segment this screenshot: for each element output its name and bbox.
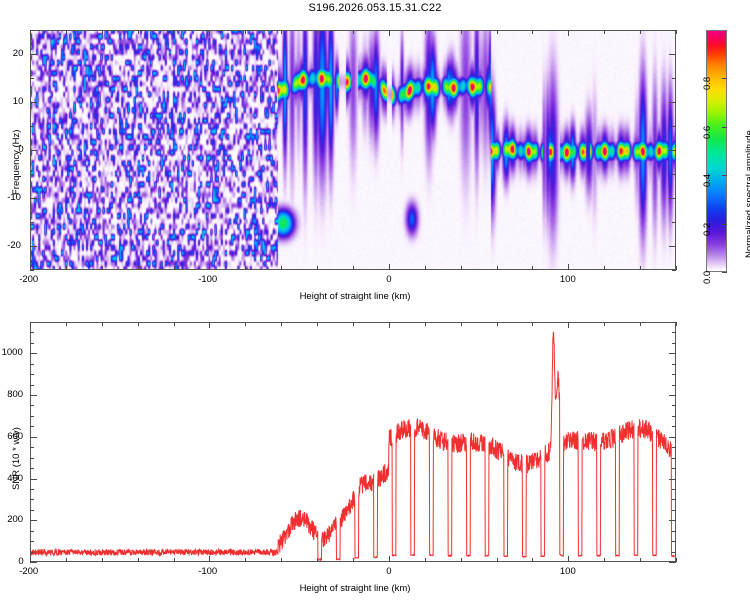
colorbar-tick-label: 0.6 bbox=[702, 126, 713, 139]
x-minor-tick-top bbox=[245, 322, 246, 326]
x-minor-tick bbox=[281, 266, 282, 270]
x-major-tick bbox=[209, 264, 210, 270]
x-minor-tick-top bbox=[497, 30, 498, 34]
x-minor-tick bbox=[676, 558, 677, 562]
x-minor-tick-top bbox=[317, 322, 318, 326]
x-tick-label: 0 bbox=[386, 274, 391, 285]
x-tick-label: -200 bbox=[19, 274, 38, 285]
y-tick-label: 10 bbox=[13, 96, 24, 107]
y-minor-tick-right bbox=[672, 222, 676, 223]
y-major-tick-right bbox=[669, 246, 676, 247]
y-major-tick-right bbox=[669, 562, 676, 563]
x-major-tick-top bbox=[568, 322, 569, 328]
x-minor-tick-top bbox=[461, 322, 462, 326]
figure-root: S196.2026.053.15.31.C22 -200-1000100-20-… bbox=[0, 0, 750, 600]
x-tick-label: 0 bbox=[386, 566, 391, 577]
y-minor-tick bbox=[30, 531, 34, 532]
colorbar-tick-label: 0.8 bbox=[702, 77, 713, 90]
colorbar-tick bbox=[722, 175, 727, 176]
y-tick-label: -20 bbox=[7, 240, 21, 251]
colorbar-tick bbox=[722, 272, 727, 273]
x-minor-tick bbox=[425, 558, 426, 562]
x-minor-tick bbox=[317, 266, 318, 270]
y-major-tick-right bbox=[669, 395, 676, 396]
x-minor-tick-top bbox=[640, 322, 641, 326]
x-minor-tick-top bbox=[461, 30, 462, 34]
y-minor-tick bbox=[30, 222, 34, 223]
y-tick-label: 200 bbox=[7, 514, 23, 525]
x-major-tick-top bbox=[389, 322, 390, 328]
y-minor-tick-right bbox=[672, 332, 676, 333]
x-minor-tick bbox=[66, 266, 67, 270]
snr-x-axis-label: Height of straight line (km) bbox=[230, 583, 480, 594]
y-minor-tick bbox=[30, 468, 34, 469]
y-minor-tick-right bbox=[672, 374, 676, 375]
x-minor-tick-top bbox=[425, 30, 426, 34]
y-minor-tick bbox=[30, 510, 34, 511]
x-major-tick bbox=[389, 264, 390, 270]
spectrogram-y-axis-label: Frequency (Hz) bbox=[11, 130, 22, 195]
x-minor-tick-top bbox=[66, 322, 67, 326]
x-minor-tick-top bbox=[317, 30, 318, 34]
y-minor-tick bbox=[30, 374, 34, 375]
y-minor-tick bbox=[30, 489, 34, 490]
y-minor-tick-right bbox=[672, 489, 676, 490]
y-minor-tick-right bbox=[672, 78, 676, 79]
x-minor-tick bbox=[497, 558, 498, 562]
y-minor-tick-right bbox=[672, 552, 676, 553]
y-major-tick bbox=[30, 54, 37, 55]
x-minor-tick-top bbox=[281, 30, 282, 34]
x-minor-tick-top bbox=[676, 30, 677, 34]
y-major-tick-right bbox=[669, 54, 676, 55]
x-tick-label: -100 bbox=[198, 566, 217, 577]
y-minor-tick bbox=[30, 416, 34, 417]
y-minor-tick-right bbox=[672, 426, 676, 427]
y-major-tick bbox=[30, 437, 37, 438]
x-minor-tick bbox=[353, 266, 354, 270]
y-minor-tick-right bbox=[672, 510, 676, 511]
x-tick-label: -100 bbox=[198, 274, 217, 285]
y-major-tick bbox=[30, 395, 37, 396]
y-minor-tick-right bbox=[672, 499, 676, 500]
y-minor-tick bbox=[30, 126, 34, 127]
x-minor-tick-top bbox=[138, 30, 139, 34]
y-tick-label: 0 bbox=[18, 556, 23, 567]
y-major-tick bbox=[30, 150, 37, 151]
x-minor-tick bbox=[640, 266, 641, 270]
y-major-tick bbox=[30, 198, 37, 199]
colorbar-tick bbox=[722, 224, 727, 225]
x-minor-tick bbox=[353, 558, 354, 562]
x-minor-tick-top bbox=[676, 322, 677, 326]
x-major-tick-top bbox=[209, 30, 210, 36]
spectrogram-x-axis-label: Height of straight line (km) bbox=[230, 291, 480, 302]
snr-y-axis-label: SNR (10 * w/v) bbox=[11, 427, 22, 490]
y-major-tick bbox=[30, 102, 37, 103]
y-minor-tick bbox=[30, 30, 34, 31]
x-tick-label: -200 bbox=[19, 566, 38, 577]
x-minor-tick bbox=[102, 266, 103, 270]
x-major-tick-top bbox=[209, 322, 210, 328]
x-minor-tick bbox=[66, 558, 67, 562]
x-minor-tick bbox=[138, 266, 139, 270]
y-minor-tick-right bbox=[672, 385, 676, 386]
x-minor-tick-top bbox=[138, 322, 139, 326]
y-major-tick-right bbox=[669, 437, 676, 438]
y-tick-label: 1000 bbox=[2, 347, 23, 358]
y-minor-tick bbox=[30, 364, 34, 365]
x-minor-tick-top bbox=[245, 30, 246, 34]
y-minor-tick bbox=[30, 552, 34, 553]
x-major-tick-top bbox=[389, 30, 390, 36]
y-major-tick-right bbox=[669, 520, 676, 521]
x-tick-label: 100 bbox=[560, 274, 576, 285]
y-minor-tick-right bbox=[672, 405, 676, 406]
y-minor-tick-right bbox=[672, 270, 676, 271]
x-minor-tick bbox=[604, 558, 605, 562]
x-minor-tick bbox=[461, 266, 462, 270]
y-major-tick-right bbox=[669, 102, 676, 103]
x-minor-tick-top bbox=[353, 30, 354, 34]
y-minor-tick bbox=[30, 385, 34, 386]
x-major-tick bbox=[568, 264, 569, 270]
y-minor-tick-right bbox=[672, 416, 676, 417]
y-minor-tick-right bbox=[672, 364, 676, 365]
y-major-tick-right bbox=[669, 479, 676, 480]
x-minor-tick-top bbox=[532, 30, 533, 34]
x-minor-tick-top bbox=[497, 322, 498, 326]
y-minor-tick bbox=[30, 405, 34, 406]
x-minor-tick bbox=[676, 266, 677, 270]
x-minor-tick-top bbox=[66, 30, 67, 34]
colorbar-label: Normalized spectral amplitude bbox=[744, 130, 750, 258]
x-minor-tick bbox=[532, 266, 533, 270]
x-minor-tick bbox=[640, 558, 641, 562]
spectrogram-image bbox=[31, 31, 675, 269]
x-minor-tick bbox=[174, 558, 175, 562]
x-minor-tick bbox=[102, 558, 103, 562]
x-major-tick bbox=[389, 556, 390, 562]
x-minor-tick bbox=[245, 266, 246, 270]
x-minor-tick-top bbox=[353, 322, 354, 326]
x-major-tick bbox=[209, 556, 210, 562]
y-major-tick bbox=[30, 520, 37, 521]
x-major-tick-top bbox=[568, 30, 569, 36]
x-minor-tick bbox=[138, 558, 139, 562]
x-minor-tick-top bbox=[174, 322, 175, 326]
y-minor-tick bbox=[30, 499, 34, 500]
y-minor-tick bbox=[30, 541, 34, 542]
colorbar-tick bbox=[722, 127, 727, 128]
y-minor-tick bbox=[30, 426, 34, 427]
x-minor-tick-top bbox=[532, 322, 533, 326]
y-minor-tick-right bbox=[672, 30, 676, 31]
y-minor-tick bbox=[30, 270, 34, 271]
snr-curve bbox=[31, 332, 675, 561]
y-minor-tick bbox=[30, 458, 34, 459]
snr-plot-area bbox=[31, 323, 675, 561]
x-minor-tick-top bbox=[604, 322, 605, 326]
x-minor-tick bbox=[281, 558, 282, 562]
spectrogram-panel bbox=[30, 30, 676, 270]
x-minor-tick-top bbox=[281, 322, 282, 326]
y-minor-tick-right bbox=[672, 322, 676, 323]
y-major-tick-right bbox=[669, 198, 676, 199]
y-minor-tick bbox=[30, 322, 34, 323]
y-major-tick bbox=[30, 353, 37, 354]
x-minor-tick-top bbox=[174, 30, 175, 34]
x-minor-tick-top bbox=[640, 30, 641, 34]
x-major-tick bbox=[568, 556, 569, 562]
y-minor-tick bbox=[30, 78, 34, 79]
x-minor-tick bbox=[497, 266, 498, 270]
y-minor-tick-right bbox=[672, 458, 676, 459]
y-major-tick-right bbox=[669, 150, 676, 151]
x-minor-tick bbox=[425, 266, 426, 270]
spectrogram-plot-area bbox=[31, 31, 675, 269]
figure-title: S196.2026.053.15.31.C22 bbox=[0, 2, 750, 14]
y-minor-tick-right bbox=[672, 126, 676, 127]
x-minor-tick-top bbox=[425, 322, 426, 326]
y-major-tick bbox=[30, 479, 37, 480]
y-tick-label: 800 bbox=[7, 389, 23, 400]
y-minor-tick bbox=[30, 343, 34, 344]
x-minor-tick bbox=[317, 558, 318, 562]
colorbar-tick-label: 0.2 bbox=[702, 223, 713, 236]
x-minor-tick-top bbox=[102, 322, 103, 326]
x-minor-tick bbox=[174, 266, 175, 270]
y-major-tick bbox=[30, 562, 37, 563]
y-minor-tick-right bbox=[672, 531, 676, 532]
x-minor-tick-top bbox=[604, 30, 605, 34]
y-minor-tick-right bbox=[672, 447, 676, 448]
y-minor-tick-right bbox=[672, 541, 676, 542]
y-minor-tick-right bbox=[672, 468, 676, 469]
y-minor-tick bbox=[30, 332, 34, 333]
y-minor-tick-right bbox=[672, 174, 676, 175]
x-minor-tick-top bbox=[102, 30, 103, 34]
snr-panel bbox=[30, 322, 676, 562]
snr-line-series bbox=[31, 323, 675, 561]
y-minor-tick bbox=[30, 447, 34, 448]
y-minor-tick bbox=[30, 174, 34, 175]
x-minor-tick bbox=[604, 266, 605, 270]
y-major-tick-right bbox=[669, 353, 676, 354]
y-major-tick bbox=[30, 246, 37, 247]
y-minor-tick-right bbox=[672, 343, 676, 344]
x-minor-tick bbox=[461, 558, 462, 562]
colorbar-tick-label: 0.4 bbox=[702, 174, 713, 187]
y-tick-label: 20 bbox=[13, 48, 24, 59]
x-tick-label: 100 bbox=[560, 566, 576, 577]
x-minor-tick bbox=[245, 558, 246, 562]
colorbar-tick bbox=[722, 78, 727, 79]
x-minor-tick bbox=[532, 558, 533, 562]
colorbar-tick-label: 0.0 bbox=[702, 271, 713, 284]
